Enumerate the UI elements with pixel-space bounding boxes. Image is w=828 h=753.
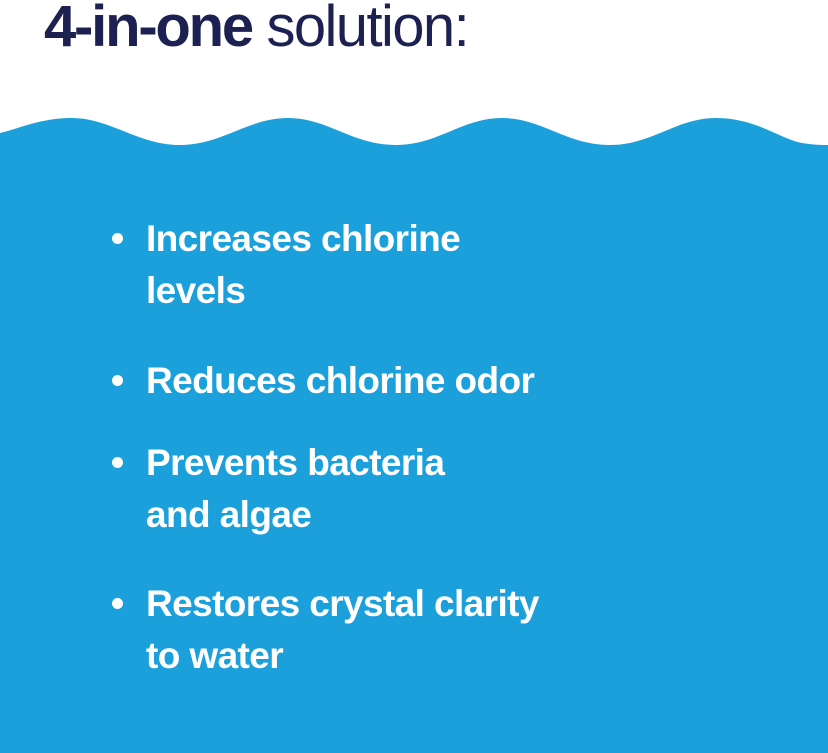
- list-item-label: Increases chlorine levels: [146, 213, 732, 317]
- list-item-label: Prevents bacteria and algae: [146, 437, 732, 541]
- page-title-emphasis: 4-in-one: [44, 0, 252, 59]
- list-item: Prevents bacteria and algae: [112, 437, 732, 541]
- page-title: 4-in-one solution:: [44, 0, 468, 64]
- bullet-dot-icon: [112, 457, 123, 468]
- bullet-dot-icon: [112, 598, 123, 609]
- page-title-space: [252, 0, 267, 59]
- bullet-dot-icon: [112, 233, 123, 244]
- promo-card: 4-in-one solution: Increases chlorine le…: [0, 0, 828, 753]
- list-item-label: Reduces chlorine odor: [146, 355, 732, 407]
- page-title-rest: solution:: [266, 0, 468, 59]
- list-item: Restores crystal clarity to water: [112, 578, 732, 682]
- list-item-label: Restores crystal clarity to water: [146, 578, 732, 682]
- list-item: Reduces chlorine odor: [112, 355, 732, 407]
- bullet-dot-icon: [112, 375, 123, 386]
- list-item: Increases chlorine levels: [112, 213, 732, 317]
